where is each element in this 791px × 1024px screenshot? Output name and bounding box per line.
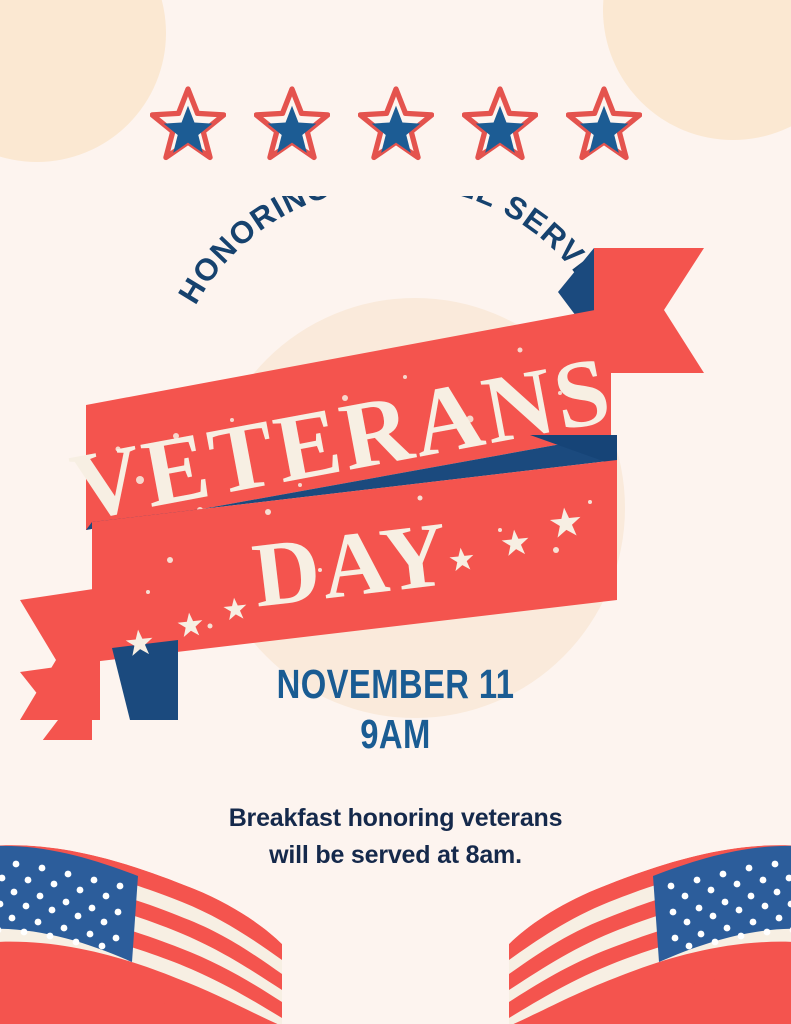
event-description-line1: Breakfast honoring veterans (0, 800, 791, 837)
event-time: 9AM (79, 714, 712, 756)
star-icon (462, 86, 538, 162)
star-icon (150, 86, 226, 162)
event-date: NOVEMBER 11 (79, 664, 712, 706)
usa-flag-icon (509, 834, 791, 1024)
veterans-day-poster: HONORING WHO ALL SERVED (0, 0, 791, 1024)
star-icon (566, 86, 642, 162)
event-date-block: NOVEMBER 11 9AM (0, 664, 791, 756)
star-icon (358, 86, 434, 162)
star-icon (254, 86, 330, 162)
star-row (0, 86, 791, 162)
usa-flag-icon (0, 834, 282, 1024)
